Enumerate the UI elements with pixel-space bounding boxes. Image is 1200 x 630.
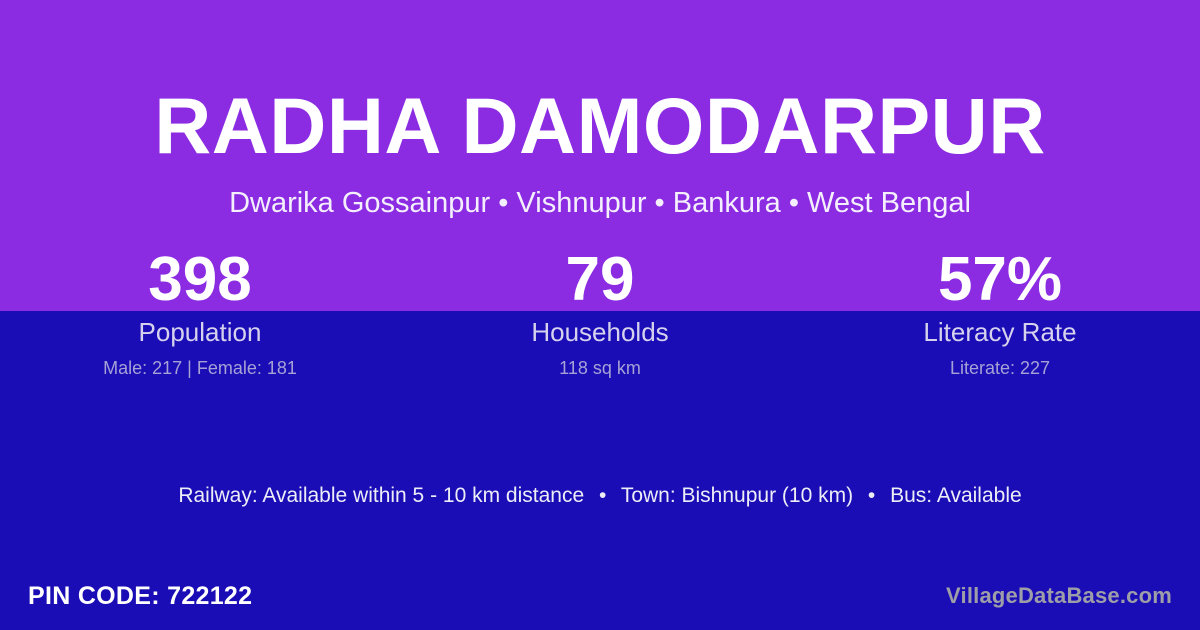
stat-value-literacy-rate: 57% (800, 249, 1200, 311)
facility-separator-2: • (859, 484, 884, 507)
pin-code: PIN CODE: 722122 (28, 584, 252, 609)
facility-town: Town: Bishnupur (10 km) (621, 484, 853, 507)
brand-watermark: VillageDataBase.com (946, 585, 1172, 607)
stat-label-households: Households (400, 319, 800, 345)
footer: PIN CODE: 722122 VillageDataBase.com (0, 576, 1200, 616)
stat-label-literacy-rate: Literacy Rate (800, 319, 1200, 345)
stat-value-population: 398 (0, 249, 400, 311)
facility-railway: Railway: Available within 5 - 10 km dist… (178, 484, 584, 507)
breadcrumb: Dwarika Gossainpur • Vishnupur • Bankura… (0, 165, 1200, 218)
stat-population: 398 Population Male: 217 | Female: 181 (0, 249, 400, 377)
page-title: RADHA DAMODARPUR (0, 0, 1200, 165)
stat-sub-households: 118 sq km (400, 359, 800, 377)
stat-label-population: Population (0, 319, 400, 345)
stat-literacy-rate: 57% Literacy Rate Literate: 227 (800, 249, 1200, 377)
stat-households: 79 Households 118 sq km (400, 249, 800, 377)
facility-separator-1: • (590, 484, 615, 507)
header: RADHA DAMODARPUR Dwarika Gossainpur • Vi… (0, 0, 1200, 218)
facility-bus: Bus: Available (890, 484, 1022, 507)
facilities-line: Railway: Available within 5 - 10 km dist… (0, 485, 1200, 506)
stats-row: 398 Population Male: 217 | Female: 181 7… (0, 249, 1200, 377)
stat-value-households: 79 (400, 249, 800, 311)
stat-sub-literacy-rate: Literate: 227 (800, 359, 1200, 377)
stat-sub-population: Male: 217 | Female: 181 (0, 359, 400, 377)
village-info-card: RADHA DAMODARPUR Dwarika Gossainpur • Vi… (0, 0, 1200, 630)
